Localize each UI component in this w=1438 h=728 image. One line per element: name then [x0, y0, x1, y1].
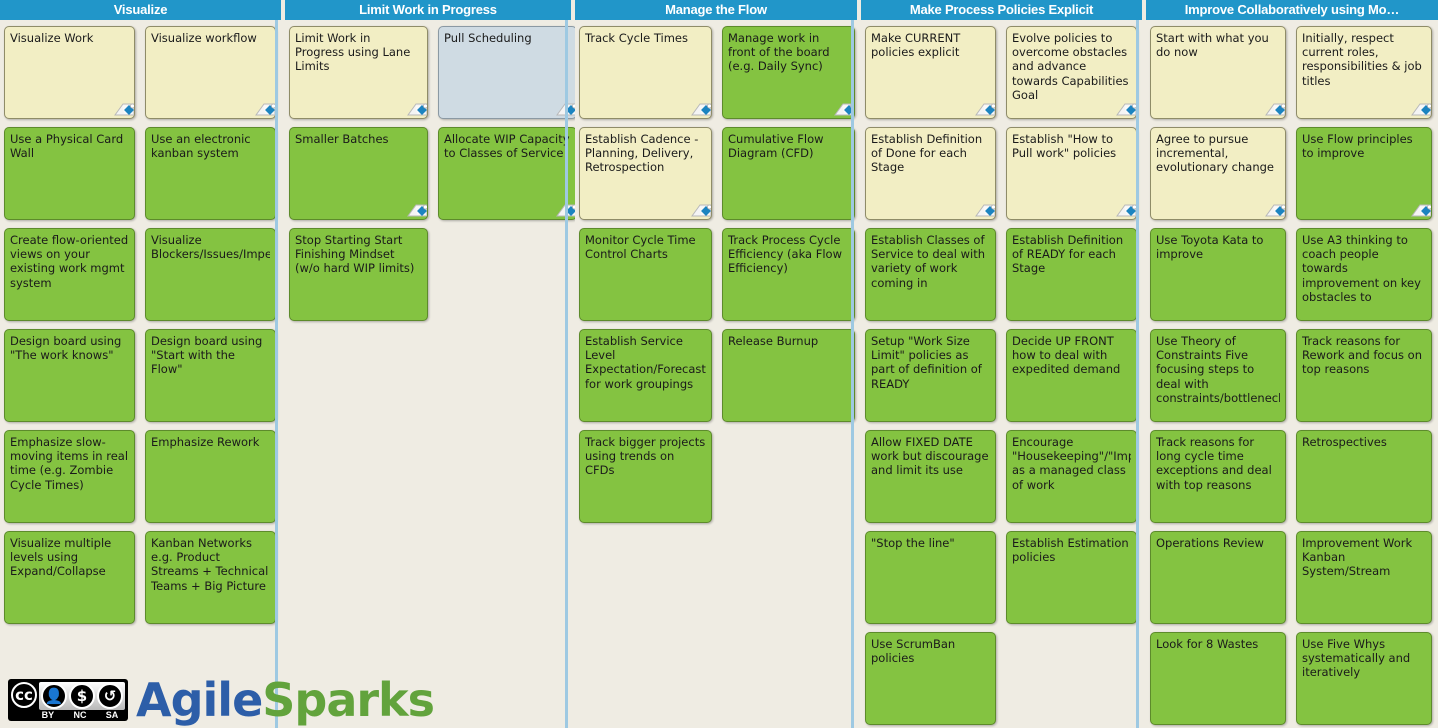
- kanban-card[interactable]: Limit Work in Progress using Lane Limits: [289, 26, 428, 119]
- kanban-card[interactable]: Design board using "Start with the Flow": [145, 329, 276, 422]
- kanban-card[interactable]: Manage work in front of the board (e.g. …: [722, 26, 855, 119]
- card-text: Use Toyota Kata to improve: [1156, 233, 1280, 261]
- cc-label-nc: NC: [73, 710, 86, 720]
- nc-icon: $: [69, 683, 95, 709]
- kanban-card[interactable]: Initially, respect current roles, respon…: [1296, 26, 1432, 119]
- column-5: Start with what you do nowInitially, res…: [1146, 20, 1438, 728]
- kanban-card[interactable]: Use Flow principles to improve: [1296, 127, 1432, 220]
- kanban-card[interactable]: Pull Scheduling: [438, 26, 577, 119]
- card-text: Use Five Whys systematically and iterati…: [1302, 637, 1426, 680]
- kanban-card[interactable]: Stop Starting Start Finishing Mindset (w…: [289, 228, 428, 321]
- footer-branding: cc 👤 $ ↺ BY NC SA AgileSparks: [8, 674, 434, 726]
- card-text: Initially, respect current roles, respon…: [1302, 31, 1426, 88]
- card-text: Visualize multiple levels using Expand/C…: [10, 536, 129, 579]
- card-text: Cumulative Flow Diagram (CFD): [728, 132, 849, 160]
- kanban-card[interactable]: Establish "How to Pull work" policies: [1006, 127, 1137, 220]
- column-header-3[interactable]: Manage the Flow: [575, 0, 857, 20]
- kanban-card[interactable]: Release Burnup: [722, 329, 855, 422]
- card-text: Visualize workflow: [151, 31, 270, 45]
- card-text: Manage work in front of the board (e.g. …: [728, 31, 849, 74]
- card-text: Make CURRENT policies explicit: [871, 31, 990, 59]
- card-text: Start with what you do now: [1156, 31, 1280, 59]
- kanban-card[interactable]: Encourage "Housekeeping"/"Improvement" a…: [1006, 430, 1137, 523]
- column-divider: [851, 20, 854, 728]
- card-text: Establish Service Level Expectation/Fore…: [585, 334, 706, 391]
- kanban-card[interactable]: Establish Definition of Done for each St…: [865, 127, 996, 220]
- kanban-card[interactable]: Establish Estimation policies: [1006, 531, 1137, 624]
- card-text: Use a Physical Card Wall: [10, 132, 129, 160]
- card-text: Encourage "Housekeeping"/"Improvement" a…: [1012, 435, 1131, 492]
- card-text: Evolve policies to overcome obstacles an…: [1012, 31, 1131, 102]
- kanban-card[interactable]: "Stop the line": [865, 531, 996, 624]
- kanban-card[interactable]: Monitor Cycle Time Control Charts: [579, 228, 712, 321]
- kanban-card[interactable]: Agree to pursue incremental, evolutionar…: [1150, 127, 1286, 220]
- kanban-card[interactable]: Establish Cadence - Planning, Delivery, …: [579, 127, 712, 220]
- card-text: Visualize Blockers/Issues/Impediments: [151, 233, 270, 261]
- sa-icon: ↺: [97, 683, 123, 709]
- kanban-card[interactable]: Visualize multiple levels using Expand/C…: [4, 531, 135, 624]
- card-text: Allocate WIP Capacity to Classes of Serv…: [444, 132, 571, 160]
- column-header-2[interactable]: Limit Work in Progress: [285, 0, 571, 20]
- card-text: Establish Estimation policies: [1012, 536, 1131, 564]
- card-text: Visualize Work: [10, 31, 129, 45]
- card-text: Release Burnup: [728, 334, 849, 348]
- kanban-card[interactable]: Evolve policies to overcome obstacles an…: [1006, 26, 1137, 119]
- kanban-board: VisualizeLimit Work in ProgressManage th…: [0, 0, 1438, 728]
- kanban-card[interactable]: Use Five Whys systematically and iterati…: [1296, 632, 1432, 725]
- column-2: Limit Work in Progress using Lane Limits…: [285, 20, 567, 728]
- agilesparks-logo: AgileSparks: [136, 677, 434, 723]
- card-text: Establish Definition of READY for each S…: [1012, 233, 1131, 276]
- cc-label-sa: SA: [106, 710, 119, 720]
- kanban-card[interactable]: Establish Definition of READY for each S…: [1006, 228, 1137, 321]
- column-divider: [275, 20, 278, 728]
- column-divider: [565, 20, 568, 728]
- cc-icon: cc: [11, 682, 37, 708]
- card-text: Operations Review: [1156, 536, 1280, 550]
- kanban-card[interactable]: Kanban Networks e.g. Product Streams + T…: [145, 531, 276, 624]
- card-text: Monitor Cycle Time Control Charts: [585, 233, 706, 261]
- board-columns: Visualize WorkVisualize workflowUse a Ph…: [0, 20, 1438, 728]
- kanban-card[interactable]: Emphasize Rework: [145, 430, 276, 523]
- column-header-1[interactable]: Visualize: [0, 0, 281, 20]
- kanban-card[interactable]: Use a Physical Card Wall: [4, 127, 135, 220]
- by-icon: 👤: [41, 683, 67, 709]
- kanban-card[interactable]: Visualize workflow: [145, 26, 276, 119]
- kanban-card[interactable]: Make CURRENT policies explicit: [865, 26, 996, 119]
- kanban-card[interactable]: Retrospectives: [1296, 430, 1432, 523]
- kanban-card[interactable]: Track reasons for long cycle time except…: [1150, 430, 1286, 523]
- card-text: Create flow-oriented views on your exist…: [10, 233, 129, 290]
- card-text: Improvement Work Kanban System/Stream: [1302, 536, 1426, 579]
- card-text: Retrospectives: [1302, 435, 1426, 449]
- cc-license-badge: cc 👤 $ ↺ BY NC SA: [8, 679, 128, 721]
- column-header-5[interactable]: Improve Collaboratively using Mo…: [1146, 0, 1438, 20]
- kanban-card[interactable]: Track bigger projects using trends on CF…: [579, 430, 712, 523]
- kanban-card[interactable]: Track reasons for Rework and focus on to…: [1296, 329, 1432, 422]
- column-header-4[interactable]: Make Process Policies Explicit: [861, 0, 1142, 20]
- card-text: Track reasons for long cycle time except…: [1156, 435, 1280, 492]
- kanban-card[interactable]: Create flow-oriented views on your exist…: [4, 228, 135, 321]
- card-text: Design board using "The work knows": [10, 334, 129, 362]
- card-text: Use A3 thinking to coach people towards …: [1302, 233, 1426, 304]
- cc-license-labels: BY NC SA: [8, 710, 128, 720]
- card-text: Establish "How to Pull work" policies: [1012, 132, 1131, 160]
- kanban-card[interactable]: Track Cycle Times: [579, 26, 712, 119]
- kanban-card[interactable]: Smaller Batches: [289, 127, 428, 220]
- card-text: Establish Classes of Service to deal wit…: [871, 233, 990, 290]
- kanban-card[interactable]: Setup "Work Size Limit" policies as part…: [865, 329, 996, 422]
- card-text: Emphasize slow-moving items in real time…: [10, 435, 129, 492]
- column-3: Track Cycle TimesManage work in front of…: [575, 20, 853, 728]
- column-header-row: VisualizeLimit Work in ProgressManage th…: [0, 0, 1438, 20]
- kanban-card[interactable]: Use Toyota Kata to improve: [1150, 228, 1286, 321]
- card-text: "Stop the line": [871, 536, 990, 550]
- card-text: Pull Scheduling: [444, 31, 571, 45]
- kanban-card[interactable]: Establish Classes of Service to deal wit…: [865, 228, 996, 321]
- kanban-card[interactable]: Use A3 thinking to coach people towards …: [1296, 228, 1432, 321]
- card-text: Look for 8 Wastes: [1156, 637, 1280, 651]
- card-text: Smaller Batches: [295, 132, 422, 146]
- kanban-card[interactable]: Visualize Blockers/Issues/Impediments: [145, 228, 276, 321]
- card-text: Track Process Cycle Efficiency (aka Flow…: [728, 233, 849, 276]
- kanban-card[interactable]: Allow FIXED DATE work but discourage and…: [865, 430, 996, 523]
- kanban-card[interactable]: Start with what you do now: [1150, 26, 1286, 119]
- kanban-card[interactable]: Use an electronic kanban system: [145, 127, 276, 220]
- card-text: Limit Work in Progress using Lane Limits: [295, 31, 422, 74]
- logo-agile-text: Agile: [136, 673, 262, 727]
- card-text: Use Theory of Constraints Five focusing …: [1156, 334, 1280, 405]
- kanban-card[interactable]: Track Process Cycle Efficiency (aka Flow…: [722, 228, 855, 321]
- card-text: Design board using "Start with the Flow": [151, 334, 270, 377]
- kanban-card[interactable]: Use ScrumBan policies: [865, 632, 996, 725]
- card-text: Track reasons for Rework and focus on to…: [1302, 334, 1426, 377]
- kanban-card[interactable]: Design board using "The work knows": [4, 329, 135, 422]
- kanban-card[interactable]: Establish Service Level Expectation/Fore…: [579, 329, 712, 422]
- cc-label-by: BY: [42, 710, 55, 720]
- card-text: Kanban Networks e.g. Product Streams + T…: [151, 536, 270, 593]
- logo-sparks-text: Sparks: [262, 673, 434, 727]
- card-text: Setup "Work Size Limit" policies as part…: [871, 334, 990, 391]
- kanban-card[interactable]: Visualize Work: [4, 26, 135, 119]
- card-text: Stop Starting Start Finishing Mindset (w…: [295, 233, 422, 276]
- card-text: Use an electronic kanban system: [151, 132, 270, 160]
- kanban-card[interactable]: Decide UP FRONT how to deal with expedit…: [1006, 329, 1137, 422]
- kanban-card[interactable]: Emphasize slow-moving items in real time…: [4, 430, 135, 523]
- card-text: Use Flow principles to improve: [1302, 132, 1426, 160]
- card-text: Allow FIXED DATE work but discourage and…: [871, 435, 990, 478]
- kanban-card[interactable]: Operations Review: [1150, 531, 1286, 624]
- card-text: Emphasize Rework: [151, 435, 270, 449]
- column-4: Make CURRENT policies explicitEvolve pol…: [861, 20, 1138, 728]
- kanban-card[interactable]: Allocate WIP Capacity to Classes of Serv…: [438, 127, 577, 220]
- card-text: Agree to pursue incremental, evolutionar…: [1156, 132, 1280, 175]
- column-1: Visualize WorkVisualize workflowUse a Ph…: [0, 20, 277, 728]
- column-divider: [1136, 20, 1139, 728]
- kanban-card[interactable]: Look for 8 Wastes: [1150, 632, 1286, 725]
- card-text: Track bigger projects using trends on CF…: [585, 435, 706, 478]
- card-text: Decide UP FRONT how to deal with expedit…: [1012, 334, 1131, 377]
- card-text: Establish Definition of Done for each St…: [871, 132, 990, 175]
- kanban-card[interactable]: Improvement Work Kanban System/Stream: [1296, 531, 1432, 624]
- card-text: Establish Cadence - Planning, Delivery, …: [585, 132, 706, 175]
- kanban-card[interactable]: Cumulative Flow Diagram (CFD): [722, 127, 855, 220]
- kanban-card[interactable]: Use Theory of Constraints Five focusing …: [1150, 329, 1286, 422]
- card-text: Track Cycle Times: [585, 31, 706, 45]
- cc-icon-group: 👤 $ ↺: [39, 682, 125, 710]
- card-text: Use ScrumBan policies: [871, 637, 990, 665]
